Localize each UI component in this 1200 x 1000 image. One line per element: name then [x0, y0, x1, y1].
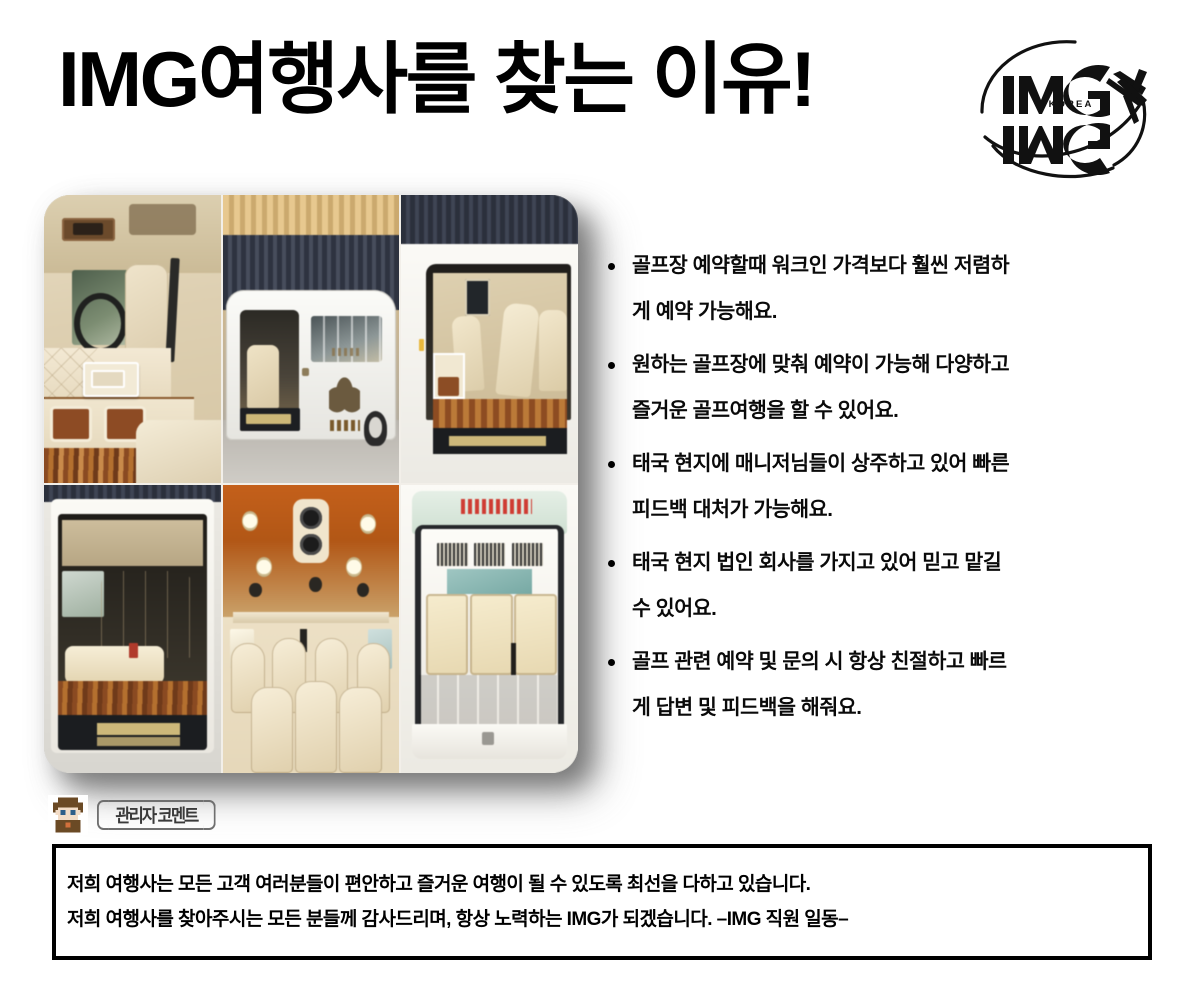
van-badge-text — [330, 420, 360, 432]
admin-comment-text: 저희 여행사는 모든 고객 여러분들이 편안하고 즐거운 여행이 될 수 있도록… — [56, 848, 1148, 937]
seat-back — [339, 687, 381, 773]
logo-subtext: KOREA — [1049, 99, 1094, 110]
radio-unit — [62, 218, 115, 241]
front-seat — [125, 264, 167, 359]
steering-wheel — [74, 293, 127, 354]
center-console — [83, 362, 140, 397]
side-window — [62, 571, 104, 617]
rear-bumper — [412, 724, 567, 759]
elephant-logo-icon — [329, 374, 361, 420]
collage-photo-bottom-left — [44, 485, 221, 773]
ceiling-light — [242, 511, 258, 531]
collage-photo-top-left — [44, 195, 221, 483]
rear-bench-section — [426, 594, 468, 675]
page-title: IMG여행사를 찾는 이유! — [58, 40, 814, 118]
admin-comment-header: 관리자 코멘트 — [48, 793, 226, 837]
ac-vent — [309, 577, 321, 591]
vehicle-photo-collage — [44, 195, 578, 773]
ceiling-monitor — [465, 279, 490, 316]
cabin-ceiling — [62, 520, 203, 566]
folded-bed-bench — [65, 646, 164, 683]
rear-vent-grille — [437, 543, 543, 566]
garage-roof — [223, 195, 400, 238]
interior-seat — [247, 345, 279, 408]
rear-seat-row — [101, 571, 193, 657]
captain-seat-3 — [539, 310, 567, 391]
admin-comment-box: 저희 여행사는 모든 고객 여러분들이 편안하고 즐거운 여행이 될 수 있도록… — [52, 844, 1152, 960]
ac-vent — [249, 583, 261, 597]
collage-photo-top-right — [401, 195, 578, 483]
admin-comment-badge-label: 관리자 코멘트 — [115, 802, 197, 828]
interior-trim — [233, 612, 388, 624]
list-item: 골프 관련 예약 및 문의 시 항상 친절하고 빠르 게 답변 및 피드백을 해… — [605, 639, 1175, 731]
collage-photo-bottom-right — [401, 485, 578, 773]
rear-bench-section — [470, 594, 512, 675]
door-handle — [302, 368, 309, 377]
rear-wheel — [364, 411, 387, 446]
list-item: 태국 현지에 매니저님들이 상주하고 있어 빠른 피드백 대처가 가능해요. — [605, 441, 1175, 533]
wood-cargo-floor — [419, 675, 560, 724]
rear-bench-section — [514, 594, 556, 675]
sunroof-region — [129, 204, 196, 236]
header: IMG여행사를 찾는 이유! KOREA — [0, 0, 1200, 185]
rear-decal-text — [461, 499, 532, 513]
collage-photo-top-center — [223, 195, 400, 483]
ottoman-seat — [136, 420, 221, 483]
side-marker-light — [419, 339, 424, 351]
pixel-avatar-icon — [48, 795, 88, 835]
ceiling-speaker — [293, 499, 328, 562]
admin-comment-badge: 관리자 코멘트 — [97, 800, 216, 830]
list-item: 골프장 예약할때 워크인 가격보다 훨씬 저렴하 게 예약 가능해요. — [605, 243, 1175, 335]
van-script-text — [332, 348, 360, 357]
list-item: 원하는 골프장에 맞춰 예약이 가능해 다양하고 즐거운 골프여행을 할 수 있… — [605, 342, 1175, 434]
airplane-icon — [1106, 69, 1147, 124]
seatbelt-buckle — [129, 643, 138, 657]
collage-photo-bottom-center — [223, 485, 400, 773]
wood-cabinet — [433, 353, 465, 399]
seat-back — [251, 687, 293, 773]
benefits-list: 골프장 예약할때 워크인 가격보다 훨씬 저렴하 게 예약 가능해요. 원하는 … — [605, 243, 1175, 738]
entry-step — [58, 715, 206, 750]
seat-back — [295, 681, 337, 773]
list-item: 태국 현지 법인 회사를 가지고 있어 믿고 맡길 수 있어요. — [605, 540, 1175, 632]
entry-step — [433, 428, 567, 454]
partition-glass — [447, 569, 532, 595]
img-korea-logo: KOREA — [963, 34, 1158, 186]
entry-step — [240, 408, 300, 431]
bench-gap — [511, 643, 516, 675]
